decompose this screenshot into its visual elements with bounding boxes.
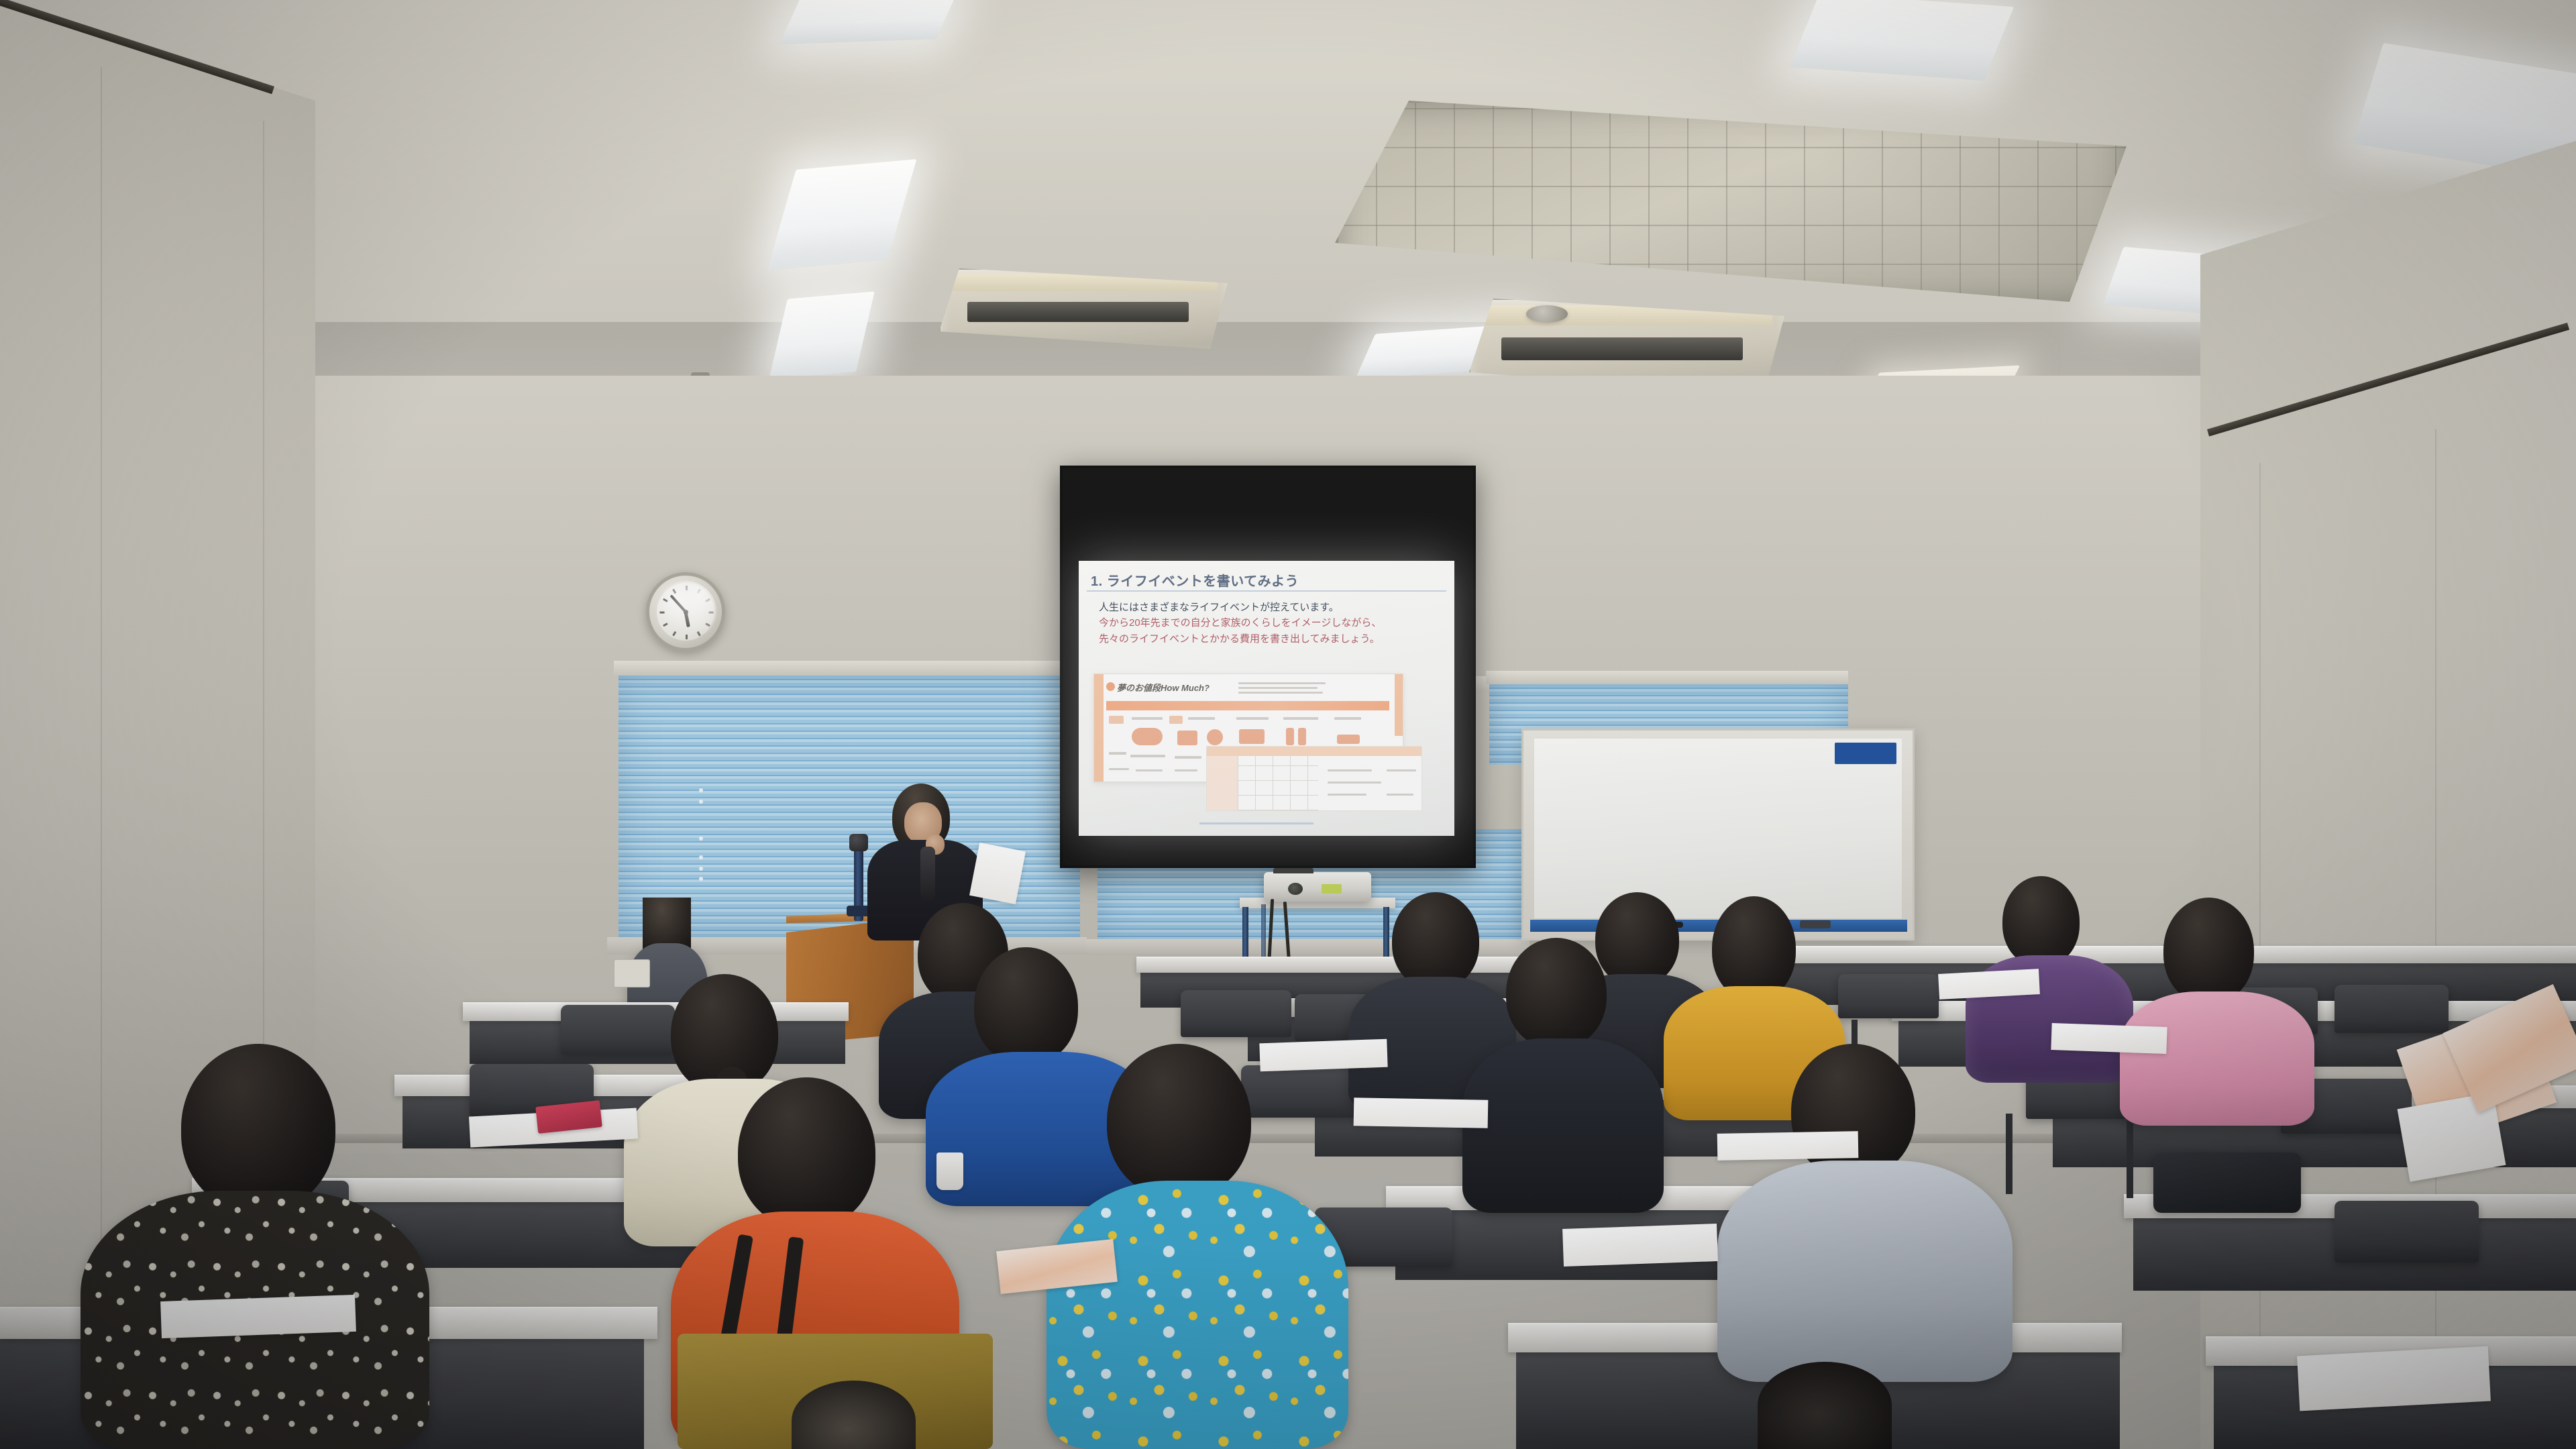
handheld-microphone bbox=[920, 847, 935, 900]
paper-7 bbox=[1938, 969, 2040, 1000]
eraser bbox=[1800, 920, 1831, 928]
chair-empty-6 bbox=[2334, 985, 2449, 1033]
attendee-9-head bbox=[1595, 892, 1679, 986]
wall-clock bbox=[646, 572, 725, 651]
attendee-2-head bbox=[738, 1077, 875, 1228]
attendee-8-body bbox=[1462, 1038, 1664, 1213]
paper-5 bbox=[1354, 1097, 1489, 1128]
attendee-10-head bbox=[1712, 896, 1796, 1000]
attendee-3-head bbox=[1107, 1044, 1251, 1198]
black-bag-backrow bbox=[2153, 1152, 2301, 1213]
desk-row5b-top bbox=[1136, 957, 1559, 973]
attendee-3-body bbox=[1046, 1181, 1348, 1449]
slide-worksheet-table bbox=[1206, 746, 1422, 811]
slide-body-line-1: 人生にはさまざまなライフイベントが控えています。 bbox=[1099, 600, 1441, 615]
attendee-12-head bbox=[2002, 876, 2080, 967]
attendee-1-head bbox=[181, 1044, 335, 1212]
presenter-papers bbox=[969, 843, 1026, 904]
paper-8 bbox=[2051, 1023, 2167, 1054]
attendee-11-body bbox=[1717, 1161, 2012, 1382]
paper-1 bbox=[160, 1295, 356, 1338]
paper-4 bbox=[1259, 1039, 1387, 1072]
chair-frame-2 bbox=[2127, 1119, 2133, 1198]
whiteboard-surface bbox=[1534, 739, 1902, 918]
blinds-headrail-3 bbox=[1486, 671, 1848, 684]
paper-10 bbox=[1717, 1131, 1859, 1161]
attendee-5-head bbox=[974, 947, 1078, 1065]
seminar-room-photo: 1. ライフイベントを書いてみよう 人生にはさまざまなライフイベントが控えていま… bbox=[0, 0, 2576, 1449]
chair-empty-2 bbox=[1181, 990, 1291, 1037]
projector bbox=[1264, 872, 1371, 902]
chair-empty-12 bbox=[2334, 1201, 2479, 1263]
attendee-7-head bbox=[1392, 892, 1479, 989]
ceiling-light-5 bbox=[1790, 0, 2014, 80]
whiteboard bbox=[1521, 729, 1915, 941]
projection-screen-housing: 1. ライフイベントを書いてみよう 人生にはさまざまなライフイベントが控えていま… bbox=[1060, 466, 1476, 868]
chair-empty-1 bbox=[561, 1005, 675, 1055]
smoke-detector-1 bbox=[1526, 305, 1568, 323]
slide-footer-line bbox=[1199, 822, 1313, 824]
handout-title: 夢のお値段How Much? bbox=[1117, 681, 1210, 694]
microphone-stand-head bbox=[849, 834, 868, 851]
slide-body-line-2: 今から20年先までの自分と家族のくらしをイメージしながら、 bbox=[1099, 615, 1441, 631]
slide-title: 1. ライフイベントを書いてみよう bbox=[1091, 570, 1440, 590]
chair-empty-10 bbox=[1241, 1065, 1362, 1118]
paper-6 bbox=[1562, 1224, 1718, 1267]
wall-outlet bbox=[614, 959, 650, 987]
slide-body-line-3: 先々のライフイベントとかかる費用を書き出してみましょう。 bbox=[1099, 631, 1441, 647]
handout-orange-bar bbox=[1106, 701, 1389, 710]
paper-9 bbox=[2297, 1346, 2491, 1411]
chair-frame-1 bbox=[2006, 1114, 2012, 1194]
whiteboard-label bbox=[1835, 743, 1896, 764]
presentation-slide: 1. ライフイベントを書いてみよう 人生にはさまざまなライフイベントが控えていま… bbox=[1079, 561, 1454, 836]
ceiling-light-1 bbox=[780, 0, 958, 44]
attendee-14-head bbox=[1758, 1362, 1892, 1449]
cup bbox=[936, 1152, 963, 1190]
blinds-headrail bbox=[614, 661, 1083, 676]
slide-title-rule bbox=[1087, 590, 1446, 592]
attendee-8-head bbox=[1506, 938, 1607, 1049]
attendee-13-head bbox=[2163, 898, 2254, 1004]
attendee-13-body bbox=[2120, 991, 2314, 1126]
handout-title-bullet bbox=[1106, 682, 1115, 691]
chair-empty-4 bbox=[1838, 974, 1939, 1018]
slide-body: 人生にはさまざまなライフイベントが控えています。 今から20年先までの自分と家族… bbox=[1099, 600, 1441, 647]
